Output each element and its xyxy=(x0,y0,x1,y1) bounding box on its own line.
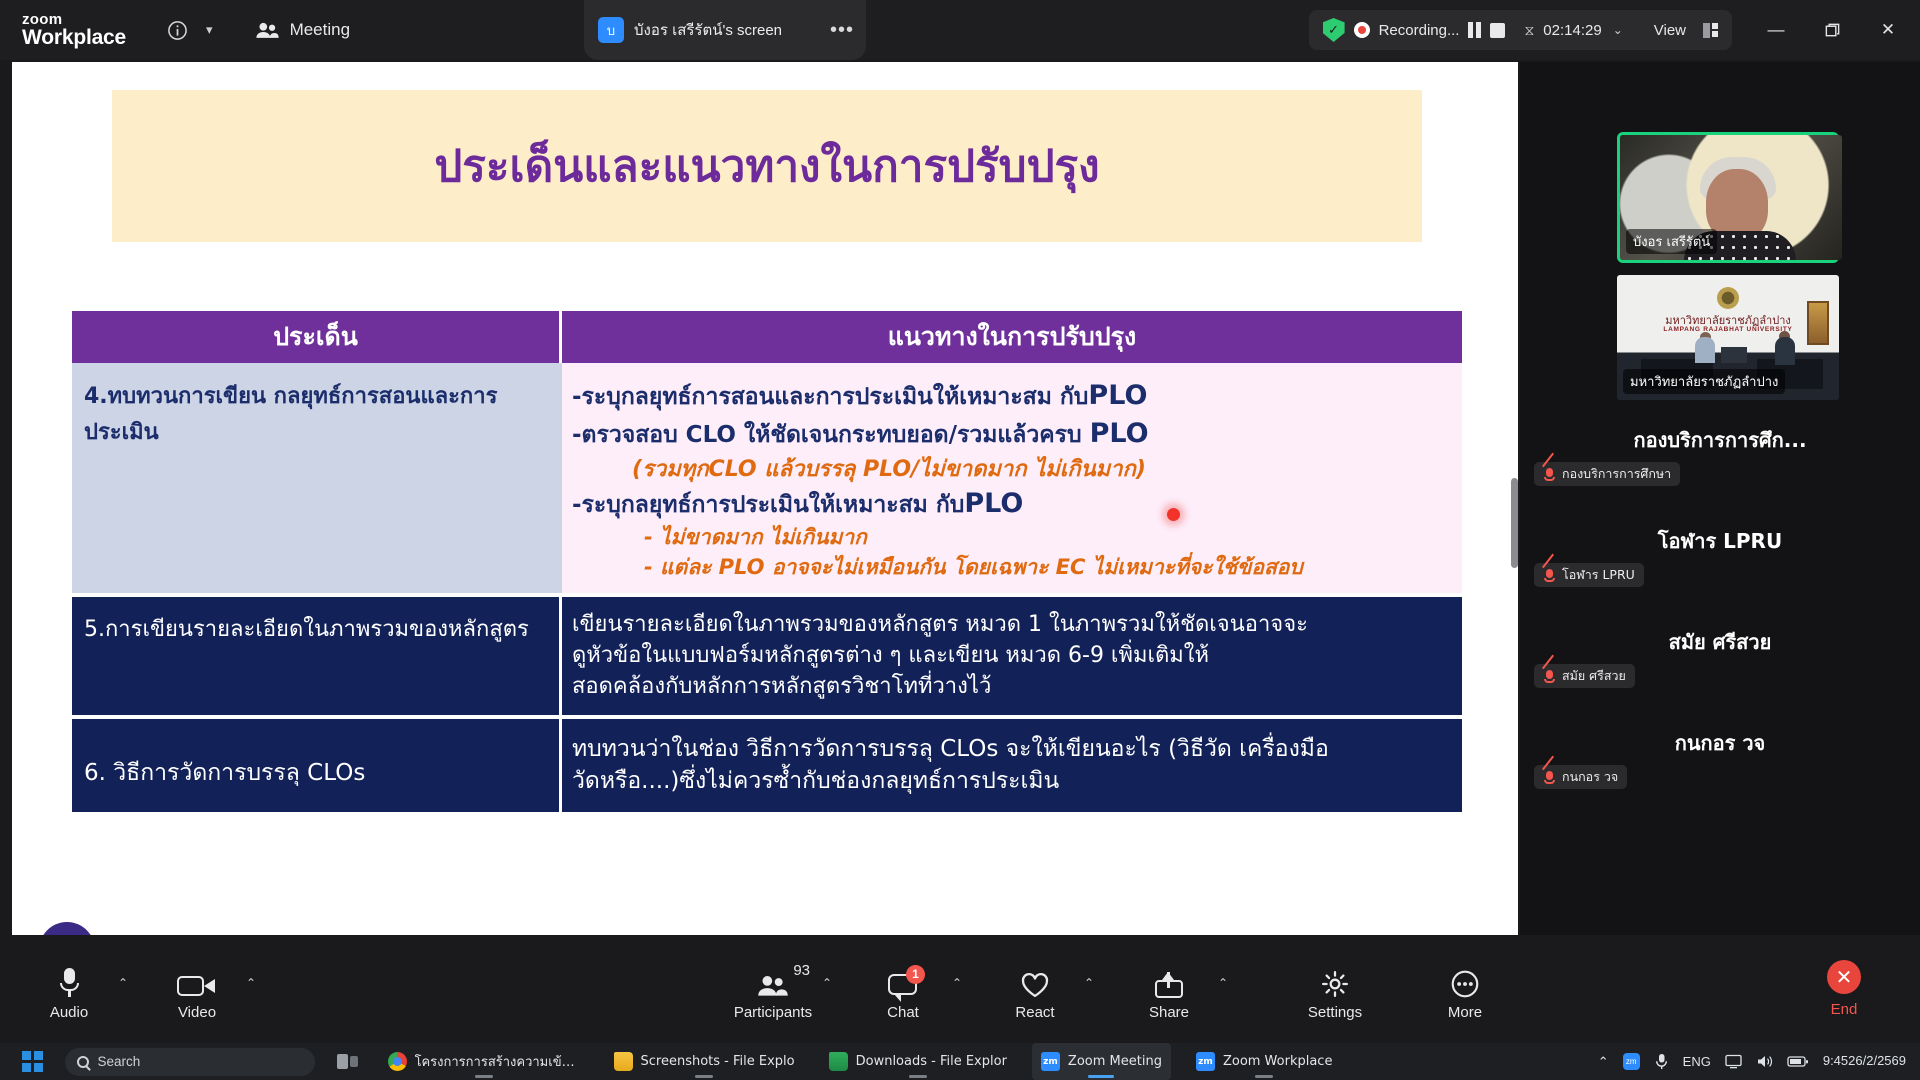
row-4-line-6: - แต่ละ PLO อาจจะไม่เหมือนกัน โดยเฉพาะ E… xyxy=(572,553,1452,583)
participants-label: Participants xyxy=(734,1004,812,1021)
chevron-down-icon[interactable]: ▾ xyxy=(206,22,213,38)
participant-tiles-list: กองบริการการศึก... กองบริการการศึกษา โอฬ… xyxy=(1520,412,1920,816)
audio-options-caret[interactable]: ⌃ xyxy=(118,976,128,990)
end-meeting-button[interactable]: ✕ End xyxy=(1796,935,1892,1043)
zoom-meeting-window: zoom Workplace ▾ Meeting บ บังอร เสรีรัต… xyxy=(0,0,1920,1080)
video-label: Video xyxy=(178,1004,216,1021)
recording-indicator-icon xyxy=(1354,22,1370,38)
recording-controls: ✓ Recording... ⧖ 02:14:29 ⌄ View xyxy=(1309,10,1732,50)
slide-title: ประเด็นและแนวทางในการปรับปรุง xyxy=(112,90,1422,242)
react-label: React xyxy=(1015,1004,1054,1021)
window-controls: — ✕ xyxy=(1748,0,1920,60)
people-icon xyxy=(756,958,790,998)
more-button[interactable]: More xyxy=(1422,958,1508,1021)
meeting-toolbar: Audio ⌃ Video ⌃ Participants 93 ⌃ xyxy=(0,935,1920,1043)
microphone-tray-icon[interactable] xyxy=(1654,1053,1669,1070)
chat-options-caret[interactable]: ⌃ xyxy=(952,976,962,990)
taskbar-item-zoom-workplace[interactable]: zm Zoom Workplace xyxy=(1187,1043,1342,1080)
participant-tile[interactable]: กนกอร วจ กนกอร วจ xyxy=(1520,715,1920,816)
ellipsis-icon xyxy=(1449,958,1481,998)
chrome-icon xyxy=(388,1052,407,1071)
video-options-caret[interactable]: ⌃ xyxy=(246,976,256,990)
row-4-line-4: -ระบุกลยุทธ์การประเมินให้เหมาะสม กับPLO xyxy=(572,485,1452,523)
row-5-line-3: สอดคล้องกับหลักการหลักสูตรวิชาโทที่วางไว… xyxy=(572,671,1452,702)
row-5-line-1: เขียนรายละเอียดในภาพรวมของหลักสูตร หมวด … xyxy=(572,609,1452,640)
participant-name-badge: กนกอร วจ xyxy=(1534,765,1627,789)
taskbar-item-zoom-meeting[interactable]: zm Zoom Meeting xyxy=(1032,1043,1171,1080)
recording-label: Recording... xyxy=(1379,22,1460,39)
mic-muted-icon xyxy=(1543,568,1556,583)
participant-tile[interactable]: โอฬาร LPRU โอฬาร LPRU xyxy=(1520,513,1920,614)
video-tile-name: บังอร เสรีรัตน์ xyxy=(1626,229,1717,254)
zoom-icon: zm xyxy=(1196,1052,1215,1071)
meeting-tab[interactable]: Meeting xyxy=(255,20,350,40)
taskbar-item-label: โครงการการสร้างความเข้าใจ xyxy=(415,1051,580,1072)
right-video-panel: บังอร เสรีรัตน์ มหาวิทยาลัยราชภัฏลำปาง L… xyxy=(1520,62,1920,935)
share-label: Share xyxy=(1149,1004,1189,1021)
share-avatar: บ xyxy=(598,17,624,43)
end-label: End xyxy=(1831,1001,1858,1018)
laptop xyxy=(1721,347,1747,363)
person2-body xyxy=(1775,337,1795,365)
taskbar-running-indicator xyxy=(695,1075,713,1078)
participants-button[interactable]: Participants 93 ⌃ xyxy=(730,958,816,1021)
share-tab-more-icon[interactable]: ••• xyxy=(830,24,854,36)
search-icon xyxy=(77,1056,89,1068)
react-button[interactable]: React ⌃ xyxy=(992,958,1078,1021)
close-button[interactable]: ✕ xyxy=(1860,0,1916,60)
mic-muted-icon xyxy=(1543,467,1556,482)
row-5-line-2: ดูหัวข้อในแบบฟอร์มหลักสูตรต่าง ๆ และเขีย… xyxy=(572,640,1452,671)
mic-muted-icon xyxy=(1543,669,1556,684)
participants-options-caret[interactable]: ⌃ xyxy=(822,976,832,990)
view-button-label[interactable]: View xyxy=(1654,22,1686,39)
title-bar: zoom Workplace ▾ Meeting บ บังอร เสรีรัต… xyxy=(0,0,1920,60)
taskbar-running-indicator xyxy=(475,1075,493,1078)
folder-icon xyxy=(614,1052,633,1071)
participant-name: สมัย ศรีสวย xyxy=(1520,626,1920,658)
red-annotation-dot xyxy=(1167,508,1180,521)
presentation-slide: ประเด็นและแนวทางในการปรับปรุง ประเด็น แน… xyxy=(12,62,1518,935)
taskbar-running-indicator xyxy=(1255,1075,1273,1078)
search-placeholder: Search xyxy=(98,1054,141,1069)
encryption-shield-icon[interactable]: ✓ xyxy=(1323,18,1345,42)
taskbar-item-chrome[interactable]: โครงการการสร้างความเข้าใจ xyxy=(379,1043,589,1080)
participant-badge-label: กองบริการการศึกษา xyxy=(1562,464,1671,484)
timer-chevron-icon[interactable]: ⌄ xyxy=(1613,23,1623,37)
row-6-line-1: ทบทวนว่าในช่อง วิธีการวัดการบรรลุ CLOs จ… xyxy=(572,733,1452,766)
participant-name: โอฬาร LPRU xyxy=(1520,525,1920,557)
share-tab-label: บังอร เสรีรัตน์'s screen xyxy=(634,18,820,42)
participant-name-badge: โอฬาร LPRU xyxy=(1534,563,1644,587)
hourglass-icon: ⧖ xyxy=(1524,22,1534,39)
row-6-issue: 6. วิธีการวัดการบรรลุ CLOs xyxy=(72,719,562,812)
video-button[interactable]: Video ⌃ xyxy=(154,958,240,1021)
chat-bubble-icon: 1 xyxy=(888,958,918,998)
audio-button[interactable]: Audio ⌃ xyxy=(26,958,112,1021)
volume-icon[interactable] xyxy=(1756,1054,1773,1069)
table-row: 5.การเขียนรายละเอียดในภาพรวมของหลักสูตร … xyxy=(72,597,1462,715)
display-icon[interactable] xyxy=(1725,1054,1742,1069)
row-4-line-2: -ตรวจสอบ CLO ให้ชัดเจนกระทบยอด/รวมแล้วคร… xyxy=(572,415,1452,453)
row-6-line-2: วัดหรือ....)ซึ่งไม่ควรซ้ำกับช่องกลยุทธ์ก… xyxy=(572,765,1452,798)
video-tile-active-speaker[interactable]: บังอร เสรีรัตน์ xyxy=(1617,132,1839,263)
taskbar-running-indicator xyxy=(1088,1075,1114,1078)
brand-workplace: Workplace xyxy=(22,27,126,48)
row-4-line-3: (รวมทุกCLO แล้วบรรลุ PLO/ไม่ขาดมาก ไม่เก… xyxy=(572,454,1452,485)
taskbar-item-label: Zoom Workplace xyxy=(1223,1054,1333,1069)
folder-green-icon xyxy=(829,1052,848,1071)
react-options-caret[interactable]: ⌃ xyxy=(1084,976,1094,990)
share-screen-icon xyxy=(1155,958,1183,998)
shared-screen-stage[interactable]: ประเด็นและแนวทางในการปรับปรุง ประเด็น แน… xyxy=(12,62,1518,935)
person1-body xyxy=(1695,337,1715,363)
participants-count: 93 xyxy=(793,962,810,979)
tray-chevron-icon[interactable]: ⌃ xyxy=(1598,1054,1609,1070)
chat-label: Chat xyxy=(887,1004,919,1021)
audio-label: Audio xyxy=(50,1004,88,1021)
table-row: 6. วิธีการวัดการบรรลุ CLOs ทบทวนว่าในช่อ… xyxy=(72,719,1462,812)
row-5-guideline: เขียนรายละเอียดในภาพรวมของหลักสูตร หมวด … xyxy=(562,597,1462,715)
brand-zoom: zoom xyxy=(22,12,126,27)
settings-label: Settings xyxy=(1308,1004,1362,1021)
column-header-guideline: แนวทางในการปรับปรุง xyxy=(562,311,1462,363)
zoom-workplace-logo: zoom Workplace xyxy=(22,12,126,48)
clock-time: 9:45 xyxy=(1823,1053,1848,1069)
clock-date: 26/2/2569 xyxy=(1848,1053,1906,1069)
microphone-icon xyxy=(59,958,79,998)
zoom-tray-icon[interactable]: zm xyxy=(1623,1053,1640,1070)
windows-taskbar: Search โครงการการสร้างความเข้าใจ Screens… xyxy=(0,1043,1920,1080)
row-4-issue: 4.ทบทวนการเขียน กลยุทธ์การสอนและการประเม… xyxy=(72,363,562,593)
taskbar-item-downloads[interactable]: Downloads - File Explor xyxy=(820,1043,1016,1080)
row-5-issue: 5.การเขียนรายละเอียดในภาพรวมของหลักสูตร xyxy=(72,597,562,715)
participant-name: กองบริการการศึก... xyxy=(1520,424,1920,456)
participant-badge-label: กนกอร วจ xyxy=(1562,767,1618,787)
meeting-tab-label: Meeting xyxy=(290,20,350,40)
participant-tile[interactable]: สมัย ศรีสวย สมัย ศรีสวย xyxy=(1520,614,1920,715)
maximize-button[interactable] xyxy=(1804,0,1860,60)
row-4-line-5: - ไม่ขาดมาก ไม่เกินมาก xyxy=(572,523,1452,553)
taskbar-running-indicator xyxy=(909,1075,927,1078)
end-call-icon: ✕ xyxy=(1827,960,1861,994)
row-4-guideline: -ระบุกลยุทธ์การสอนและการประเมินให้เหมาะส… xyxy=(562,363,1462,593)
pause-recording-button[interactable] xyxy=(1468,22,1481,38)
table-header-row: ประเด็น แนวทางในการปรับปรุง xyxy=(72,311,1462,363)
participant-name: กนกอร วจ xyxy=(1520,727,1920,759)
layout-icon[interactable] xyxy=(1703,23,1718,38)
taskbar-item-label: Screenshots - File Explo xyxy=(641,1054,795,1069)
share-options-caret[interactable]: ⌃ xyxy=(1218,976,1228,990)
camera-icon xyxy=(177,958,217,998)
participant-badge-label: โอฬาร LPRU xyxy=(1562,565,1635,585)
people-icon xyxy=(255,21,279,40)
university-seal-icon xyxy=(1717,287,1739,309)
minimize-button[interactable]: — xyxy=(1748,0,1804,60)
task-view-icon[interactable] xyxy=(337,1051,363,1073)
meeting-timer: 02:14:29 xyxy=(1543,22,1601,39)
zoom-icon: zm xyxy=(1041,1052,1060,1071)
windows-start-icon[interactable] xyxy=(22,1051,43,1072)
stage-scrollbar[interactable] xyxy=(1511,478,1518,568)
system-tray: ⌃ zm ENG xyxy=(1598,1043,1920,1080)
chat-unread-badge: 1 xyxy=(906,965,925,984)
row-4-line-1: -ระบุกลยุทธ์การสอนและการประเมินให้เหมาะส… xyxy=(572,377,1452,415)
row-6-guideline: ทบทวนว่าในช่อง วิธีการวัดการบรรลุ CLOs จ… xyxy=(562,719,1462,812)
university-name-en: LAMPANG RAJABHAT UNIVERSITY xyxy=(1617,326,1839,333)
clock[interactable]: 9:45 26/2/2569 xyxy=(1823,1053,1906,1069)
video-tile-room[interactable]: มหาวิทยาลัยราชภัฏลำปาง LAMPANG RAJABHAT … xyxy=(1617,275,1839,400)
search-input[interactable]: Search xyxy=(65,1048,315,1076)
mic-muted-icon xyxy=(1543,770,1556,785)
language-indicator[interactable]: ENG xyxy=(1683,1054,1711,1069)
battery-icon[interactable] xyxy=(1787,1055,1809,1068)
settings-button[interactable]: Settings xyxy=(1292,958,1378,1021)
table-row: 4.ทบทวนการเขียน กลยุทธ์การสอนและการประเม… xyxy=(72,363,1462,593)
info-icon[interactable] xyxy=(162,15,192,45)
screen-share-tab[interactable]: บ บังอร เสรีรัตน์'s screen ••• xyxy=(584,0,866,60)
more-label: More xyxy=(1448,1004,1482,1021)
video-tile-name: มหาวิทยาลัยราชภัฏลำปาง xyxy=(1623,369,1785,394)
participant-badge-label: สมัย ศรีสวย xyxy=(1562,666,1626,686)
wall-painting xyxy=(1807,301,1829,345)
taskbar-item-label: Downloads - File Explor xyxy=(856,1054,1007,1069)
chat-button[interactable]: 1 Chat ⌃ xyxy=(860,958,946,1021)
stop-recording-button[interactable] xyxy=(1490,23,1505,38)
participant-name-badge: สมัย ศรีสวย xyxy=(1534,664,1635,688)
participant-name-badge: กองบริการการศึกษา xyxy=(1534,462,1680,486)
slide-table: ประเด็น แนวทางในการปรับปรุง 4.ทบทวนการเข… xyxy=(72,311,1462,812)
taskbar-item-screenshots[interactable]: Screenshots - File Explo xyxy=(605,1043,804,1080)
heart-icon xyxy=(1020,958,1050,998)
gear-icon xyxy=(1321,958,1349,998)
column-header-issue: ประเด็น xyxy=(72,311,562,363)
participant-tile[interactable]: กองบริการการศึก... กองบริการการศึกษา xyxy=(1520,412,1920,513)
share-button[interactable]: Share ⌃ xyxy=(1126,958,1212,1021)
taskbar-item-label: Zoom Meeting xyxy=(1068,1054,1162,1069)
